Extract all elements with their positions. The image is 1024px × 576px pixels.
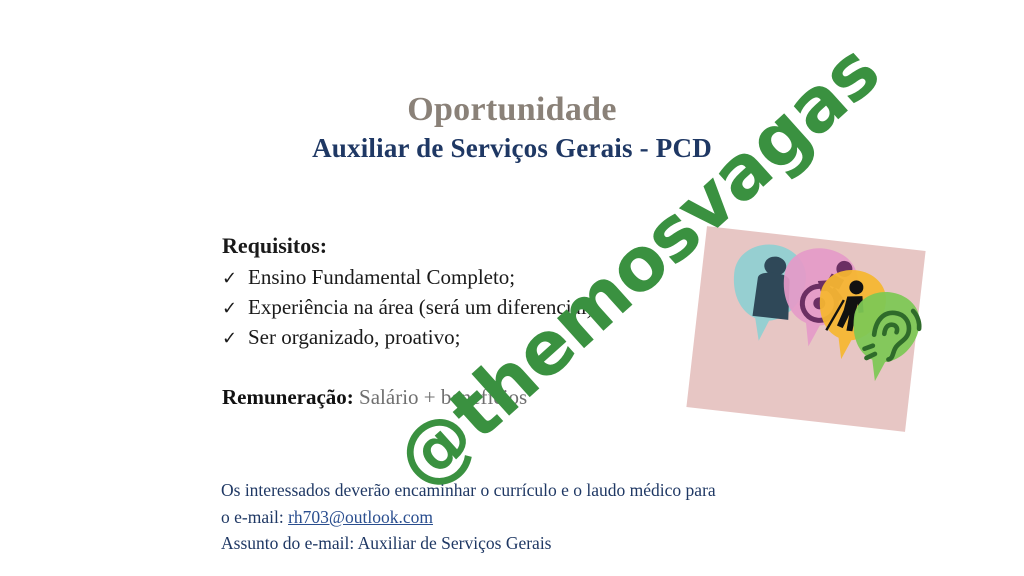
accessibility-illustration (688, 226, 924, 438)
email-link[interactable]: rh703@outlook.com (288, 507, 433, 527)
page-title: Oportunidade (0, 92, 1024, 128)
requirements-heading: Requisitos: (222, 232, 742, 260)
list-item-label: Experiência na área (será um diferencial… (248, 292, 600, 322)
speech-bubbles-group (688, 226, 924, 438)
check-icon: ✓ (222, 326, 248, 352)
list-item: ✓ Ser organizado, proativo; (222, 322, 742, 352)
list-item: ✓ Experiência na área (será um diferenci… (222, 292, 742, 322)
requirements-section: Requisitos: ✓ Ensino Fundamental Complet… (222, 232, 742, 352)
check-icon: ✓ (222, 266, 248, 292)
job-posting-page: Oportunidade Auxiliar de Serviços Gerais… (0, 0, 1024, 576)
remuneration-value: Salário + benefícios (359, 385, 527, 409)
contact-email-line: o e-mail: rh703@outlook.com (221, 504, 716, 531)
email-prefix-label: o e-mail: (221, 507, 288, 527)
remuneration-label: Remuneração: (222, 385, 354, 409)
contact-section: Os interessados deverão encaminhar o cur… (221, 477, 716, 557)
list-item-label: Ser organizado, proativo; (248, 322, 460, 352)
check-icon: ✓ (222, 296, 248, 322)
requirements-list: ✓ Ensino Fundamental Completo; ✓ Experiê… (222, 262, 742, 353)
remuneration-section: Remuneração: Salário + benefícios (222, 385, 527, 410)
contact-instruction: Os interessados deverão encaminhar o cur… (221, 477, 716, 504)
list-item-label: Ensino Fundamental Completo; (248, 262, 515, 292)
list-item: ✓ Ensino Fundamental Completo; (222, 262, 742, 292)
title-block: Oportunidade Auxiliar de Serviços Gerais… (0, 92, 1024, 164)
contact-subject-line: Assunto do e-mail: Auxiliar de Serviços … (221, 530, 716, 557)
page-subtitle: Auxiliar de Serviços Gerais - PCD (0, 133, 1024, 164)
